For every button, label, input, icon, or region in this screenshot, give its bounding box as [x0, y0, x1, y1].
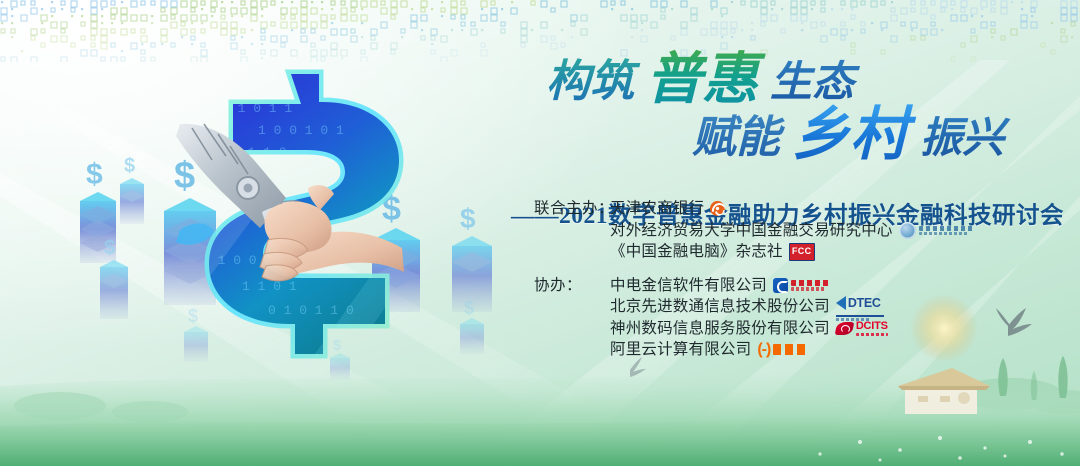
uibe-china-finance-research-center-logo [899, 222, 975, 239]
dcits-logo: DCITS [836, 321, 888, 336]
headline-block: 构筑 普惠 生态 赋能 乡村 [520, 46, 1072, 164]
coorganizer-row-2: 协办： 北京先进数通信息技术股份公司 DTEC [534, 296, 975, 318]
svg-text:1 1 0 1: 1 1 0 1 [242, 279, 297, 294]
headline-segment-5: 乡村 [792, 102, 917, 164]
coorganizer-row-1: 协办： 中电金信软件有限公司 [534, 275, 975, 297]
cohost-row-1: 联合主办： 天津农商银行 [534, 198, 975, 220]
svg-text:$: $ [464, 298, 474, 318]
dollar-sign-symbol: 0 1 0 1 1 1 0 0 1 0 1 0 1 1 0 1 0 1 0 1 … [72, 74, 432, 382]
cohost-row-2: 联合主办： 对外经济贸易大学中国金融交易研究中心 [534, 220, 975, 242]
svg-text:0 1 0 1 1 0: 0 1 0 1 1 0 [268, 303, 354, 318]
cohost-name-1: 天津农商银行 [610, 198, 704, 220]
event-banner: $ $ [0, 0, 1080, 466]
fcc-magazine-logo: FCC [789, 243, 815, 261]
svg-text:$: $ [460, 203, 476, 234]
svg-text:$: $ [174, 155, 195, 197]
credits-spacer [534, 263, 975, 275]
coorganizer-label: 协办： [534, 275, 610, 297]
cohost-row-3: 联合主办： 《中国金融电脑》杂志社 FCC [534, 241, 975, 263]
svg-text:1 0 0 1 0 1: 1 0 0 1 0 1 [258, 123, 344, 138]
swallow-bird-icon [996, 308, 1032, 336]
svg-text:1 0 0 1: 1 0 0 1 [222, 327, 277, 342]
svg-text:$: $ [333, 337, 342, 354]
coorganizer-group: 协办： 中电金信软件有限公司 协办： 北京先进数通信息技术股份公司 [534, 275, 975, 361]
svg-text:$: $ [188, 306, 198, 326]
svg-text:$: $ [104, 237, 115, 259]
coorganizer-name-1: 中电金信软件有限公司 [610, 275, 767, 297]
headline-segment-2: 普惠 [646, 47, 766, 108]
coorganizer-row-4: 协办： 阿里云计算有限公司 (-) [534, 339, 975, 361]
cypress-trees [998, 356, 1067, 400]
ciantech-logo [773, 278, 831, 293]
cohost-label: 联合主办： [534, 198, 610, 220]
dcits-logo-text: DCITS [856, 321, 888, 332]
fcc-logo-text: FCC [789, 243, 815, 261]
svg-text:$: $ [86, 158, 103, 191]
dollar-sign-handshake-illustration: $ $ [72, 52, 542, 402]
headline-segment-1: 构筑 [546, 56, 641, 107]
field-flowers [818, 436, 1063, 462]
svg-text:1 0 1: 1 0 1 [282, 167, 321, 182]
cohost-name-2: 对外经济贸易大学中国金融交易研究中心 [610, 220, 893, 242]
cohost-name-3: 《中国金融电脑》杂志社 [610, 241, 783, 263]
aliyun-logo: (-) [757, 342, 809, 358]
dtec-logo: DTEC [836, 293, 884, 321]
credits-block: 联合主办： 天津农商银行 联合主办： 对外经济贸易大学中国金融交易研究中心 联合… [534, 198, 975, 361]
dtec-logo-text: DTEC [848, 293, 881, 315]
headline-line-2: 赋能 乡村 振兴 [520, 102, 1072, 164]
coorganizer-name-3: 神州数码信息服务股份有限公司 [610, 318, 830, 340]
coorganizer-name-2: 北京先进数通信息技术股份公司 [610, 296, 830, 318]
cohost-group: 联合主办： 天津农商银行 联合主办： 对外经济贸易大学中国金融交易研究中心 联合… [534, 198, 975, 263]
farmhouse-icon [898, 368, 990, 414]
headline-segment-6: 振兴 [920, 113, 1011, 162]
coorganizer-name-4: 阿里云计算有限公司 [610, 339, 751, 361]
svg-text:$: $ [124, 155, 135, 177]
headline-segment-3: 生态 [770, 57, 860, 106]
headline-segment-4: 赋能 [692, 112, 785, 163]
coorganizer-row-3: 协办： 神州数码信息服务股份有限公司 DCITS [534, 318, 975, 340]
tianjin-rural-commercial-bank-swirl-logo [710, 201, 725, 216]
headline-line-1: 构筑 普惠 生态 [520, 46, 1072, 108]
